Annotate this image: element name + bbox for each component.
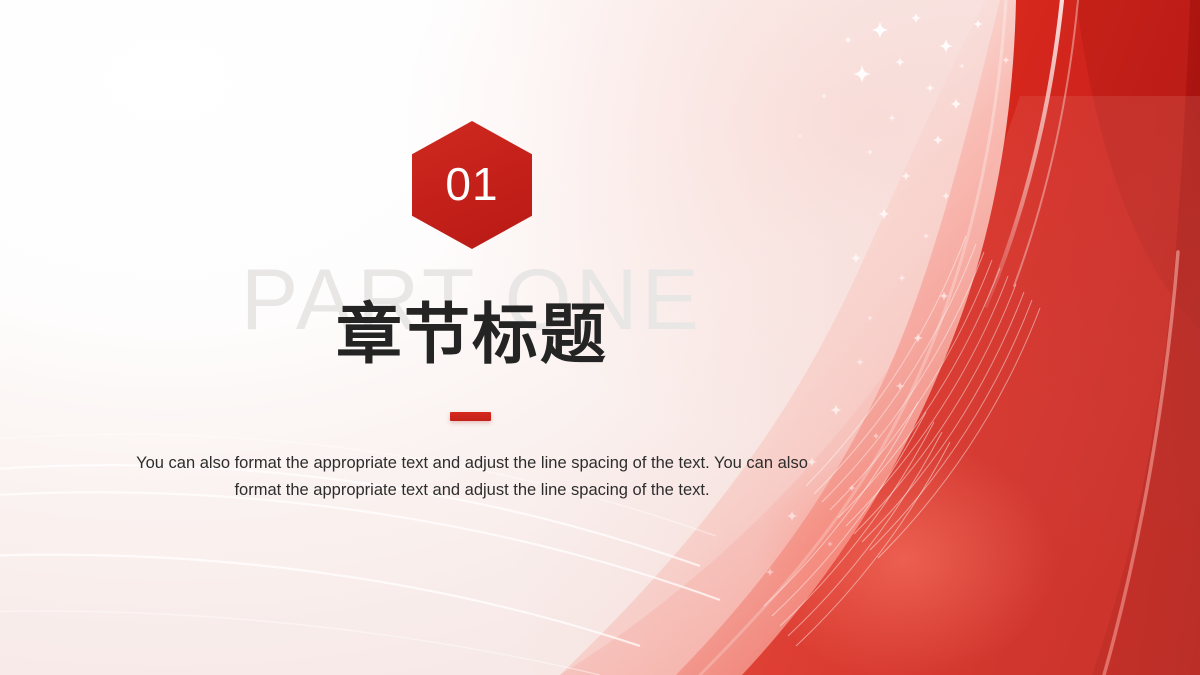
- section-number-badge: 01: [412, 121, 532, 249]
- body-paragraph: You can also format the appropriate text…: [132, 450, 812, 503]
- section-number: 01: [412, 121, 532, 249]
- page-title: 章节标题: [0, 298, 944, 372]
- presentation-slide: 01 PART ONE 章节标题 You can also format the…: [0, 0, 1200, 675]
- title-divider: [450, 412, 491, 421]
